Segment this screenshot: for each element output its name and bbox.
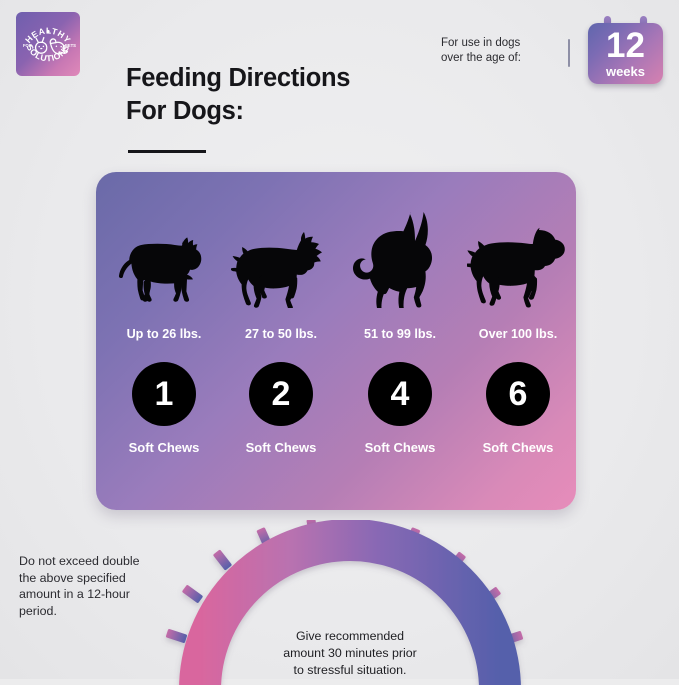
- calendar-number: 12: [606, 28, 645, 63]
- page-title-line-2: For Dogs:: [126, 95, 350, 128]
- age-note-line-1: For use in dogs: [441, 36, 521, 51]
- age-requirement-note: For use in dogs over the age of:: [441, 36, 521, 67]
- shepherd-silhouette-icon: [340, 200, 460, 308]
- weight-range-label: 51 to 99 lbs.: [340, 327, 460, 341]
- logo-right-text: PETS: [65, 43, 76, 48]
- timing-arc-graphic: Give recommended amount 30 minutes prior…: [160, 520, 540, 685]
- dosage-column: 51 to 99 lbs. 4 Soft Chews: [340, 172, 460, 510]
- brand-logo-artwork: HEALTHY SOLUTIONS FOR PETS: [16, 12, 80, 76]
- chew-count-badge: 1: [132, 362, 196, 426]
- page-title: Feeding Directions For Dogs:: [126, 62, 350, 127]
- page-title-line-1: Feeding Directions: [126, 62, 350, 95]
- chew-unit-label: Soft Chews: [340, 440, 460, 455]
- vertical-divider: [568, 39, 570, 67]
- age-note-line-2: over the age of:: [441, 51, 521, 66]
- chew-count-badge: 6: [486, 362, 550, 426]
- chew-count-badge: 4: [368, 362, 432, 426]
- terrier-silhouette-icon: [104, 200, 224, 308]
- title-underline-rule: [128, 150, 206, 153]
- dosage-column: Over 100 lbs. 6 Soft Chews: [458, 172, 576, 510]
- weight-range-label: 27 to 50 lbs.: [221, 327, 341, 341]
- dosage-column: 27 to 50 lbs. 2 Soft Chews: [221, 172, 341, 510]
- logo-left-text: FOR: [23, 43, 32, 48]
- timing-line-3: to stressful situation.: [160, 662, 540, 679]
- dosage-card: Up to 26 lbs. 1 Soft Chews 27 to 50 lbs.…: [96, 172, 576, 510]
- weight-range-label: Up to 26 lbs.: [104, 327, 224, 341]
- infographic-page: HEALTHY SOLUTIONS FOR PETS: [0, 0, 679, 679]
- calendar-unit: weeks: [606, 65, 645, 78]
- chew-unit-label: Soft Chews: [458, 440, 576, 455]
- mastiff-silhouette-icon: [458, 200, 576, 308]
- timing-line-1: Give recommended: [160, 628, 540, 645]
- brand-logo: HEALTHY SOLUTIONS FOR PETS: [16, 12, 80, 76]
- calendar-body: 12 weeks: [588, 23, 663, 84]
- chew-unit-label: Soft Chews: [104, 440, 224, 455]
- chew-count-badge: 2: [249, 362, 313, 426]
- dosage-column: Up to 26 lbs. 1 Soft Chews: [104, 172, 224, 510]
- medium-dog-silhouette-icon: [221, 200, 341, 308]
- timing-instruction-text: Give recommended amount 30 minutes prior…: [160, 628, 540, 679]
- chew-unit-label: Soft Chews: [221, 440, 341, 455]
- weight-range-label: Over 100 lbs.: [458, 327, 576, 341]
- timing-line-2: amount 30 minutes prior: [160, 645, 540, 662]
- calendar-icon: 12 weeks: [588, 16, 663, 84]
